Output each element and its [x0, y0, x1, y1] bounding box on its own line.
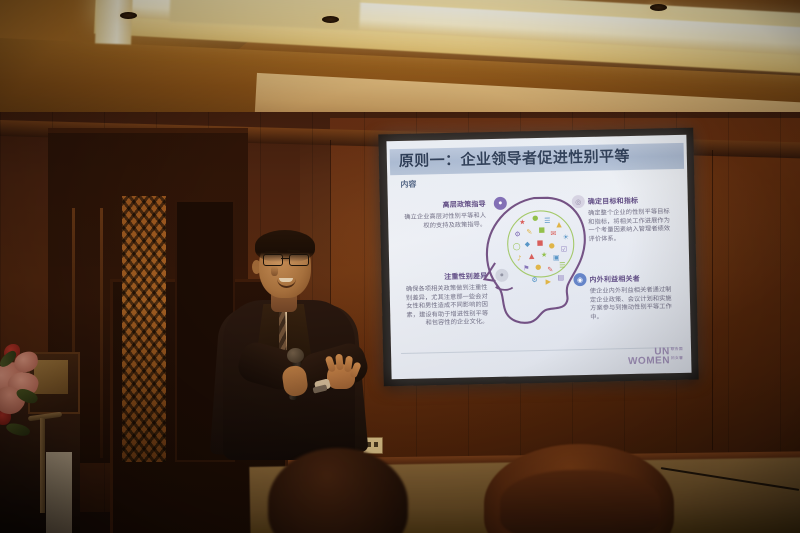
svg-text:★: ★: [541, 251, 547, 259]
logo-cn-2: 妇女署: [671, 356, 683, 360]
logo-line-2: WOMEN: [628, 355, 670, 367]
head-with-brain-icons: ★ ● ☰ ▲ ⚙ ✎ ■ ✉ ☀ ◯ ◆ ■ ● ☑ ♪: [474, 189, 597, 332]
wall-seam: [712, 150, 713, 450]
svg-text:▲: ▲: [529, 252, 535, 260]
lens-left: [263, 254, 283, 266]
svg-text:◆: ◆: [525, 240, 531, 248]
svg-text:▣: ▣: [553, 254, 560, 262]
svg-text:☀: ☀: [562, 233, 568, 241]
logo-cn-1: 联合国: [671, 347, 683, 351]
microphone-icon[interactable]: [287, 348, 304, 363]
svg-text:☰: ☰: [544, 217, 550, 225]
svg-text:⚙: ⚙: [514, 230, 520, 238]
svg-text:★: ★: [519, 218, 525, 226]
svg-text:☰: ☰: [559, 261, 565, 269]
svg-text:▶: ▶: [545, 278, 551, 286]
svg-text:▤: ▤: [557, 273, 564, 281]
svg-text:♪: ♪: [517, 254, 522, 262]
svg-text:■: ■: [538, 226, 545, 234]
glasses-bridge: [281, 258, 289, 259]
flower-arrangement: [0, 338, 114, 478]
svg-text:◯: ◯: [513, 242, 521, 250]
presentation-slide: 原则一：企业领导者促进性别平等 内容 高层政策指导 确立企业高层对性别平等和人权…: [386, 135, 691, 379]
svg-text:●: ●: [535, 263, 541, 271]
svg-text:●: ●: [532, 214, 538, 222]
block-heading: 高层政策指导: [398, 199, 486, 211]
audience-head-right-hair: [500, 470, 660, 533]
block-body: 使企业内外利益相关者通过制定企业政策、会议计划和实施方案参与到推动性别平等工作中…: [590, 286, 679, 322]
nose: [271, 266, 278, 276]
svg-text:☑: ☑: [561, 245, 567, 253]
svg-text:⚙: ⚙: [531, 276, 537, 284]
slide-block-top-right: 确定目标和指标 确定整个企业的性别平等目标和指标，将相关工作进展作为一个考量因素…: [588, 195, 677, 244]
slide-title-band: 原则一：企业领导者促进性别平等: [390, 143, 684, 175]
projection-screen[interactable]: 原则一：企业领导者促进性别平等 内容 高层政策指导 确立企业高层对性别平等和人权…: [386, 135, 691, 379]
lens-right: [289, 254, 309, 266]
glasses-icon: [263, 254, 309, 265]
downlight-icon: [322, 16, 339, 23]
svg-text:✉: ✉: [550, 230, 556, 238]
svg-text:▲: ▲: [556, 220, 562, 228]
block-body: 确定整个企业的性别平等目标和指标，将相关工作进展作为一个考量因素纳入管理者绩效评…: [588, 208, 677, 244]
door-lattice-panel: [122, 196, 166, 462]
leaf-icon: [5, 421, 31, 439]
un-women-logo: UN联合国 WOMEN妇女署: [628, 347, 684, 366]
svg-text:■: ■: [537, 239, 544, 247]
downlight-icon: [120, 12, 137, 19]
svg-text:●: ●: [549, 242, 555, 250]
svg-text:✎: ✎: [547, 266, 553, 274]
photo-scene: 原则一：企业领导者促进性别平等 内容 高层政策指导 确立企业高层对性别平等和人权…: [0, 0, 800, 533]
downlight-icon: [650, 4, 667, 11]
cove-light-return: [95, 0, 133, 45]
svg-text:⚑: ⚑: [523, 264, 529, 272]
block-heading: 确定目标和指标: [588, 195, 676, 207]
slide-block-bottom-right: 内外利益相关者 使企业内外利益相关者通过制定企业政策、会议计划和实施方案参与到推…: [589, 273, 678, 322]
slide-subtitle: 内容: [400, 179, 416, 190]
svg-text:✎: ✎: [526, 228, 532, 236]
block-heading: 注重性别差异: [399, 271, 487, 283]
block-heading: 内外利益相关者: [589, 273, 677, 285]
slide-title: 原则一：企业领导者促进性别平等: [399, 147, 630, 172]
finger: [335, 354, 344, 371]
presenter: [205, 228, 385, 458]
